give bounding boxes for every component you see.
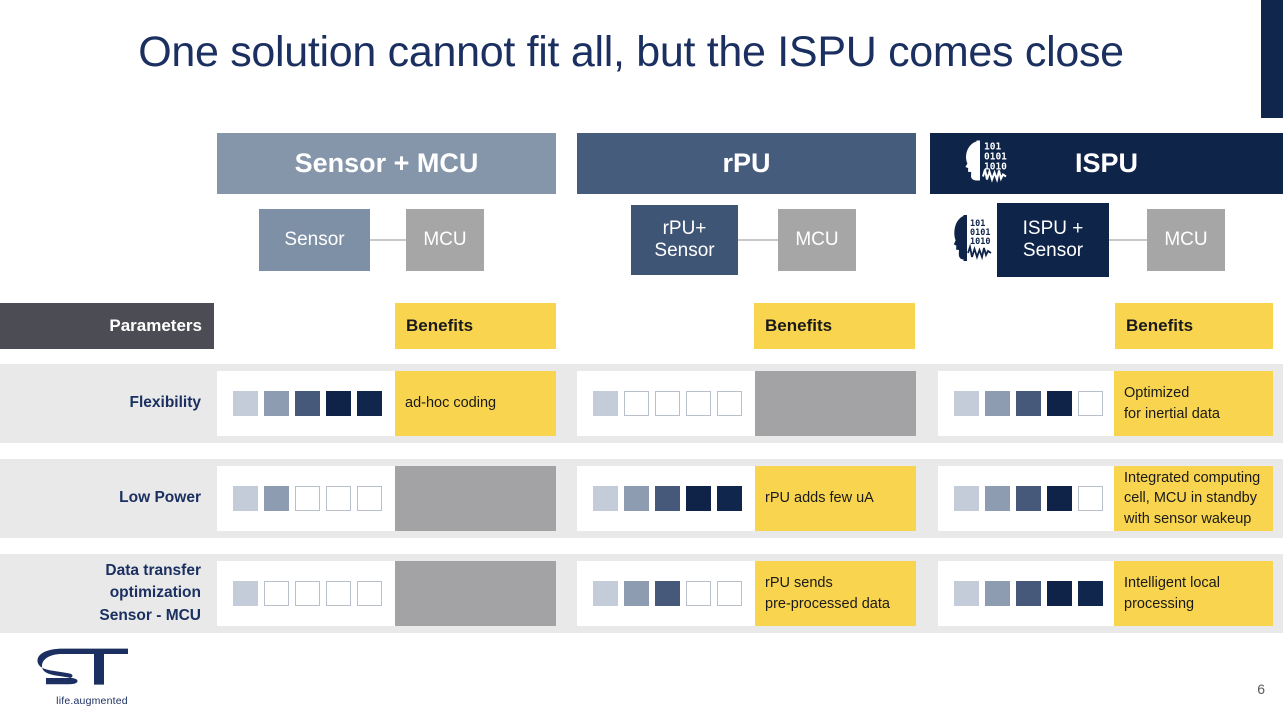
benefit-text-ispu: Intelligent localprocessing [1114,561,1273,626]
rating-squares [577,466,755,531]
diagram-connector [370,239,406,241]
benefit-text-ispu: Optimizedfor inertial data [1114,371,1273,436]
rating-square-filled [295,391,320,416]
benefit-text-rpu [755,371,916,436]
benefit-text-rpu: rPU adds few uA [755,466,916,531]
row-label: Flexibility [0,364,214,443]
benefit-text-sensor-mcu: ad-hoc coding [395,371,556,436]
column-rpu: rPU rPU+ Sensor MCU [577,133,916,286]
row-label-text: Sensor - MCU [99,607,201,624]
rating-square-filled [593,486,618,511]
rating-square-empty [326,581,351,606]
st-logo-mark [32,648,152,692]
benefits-header-rpu: Benefits [754,303,915,349]
diagram-block-sensor: Sensor [259,209,370,271]
benefit-line: processing [1124,594,1267,615]
rating-square-empty [264,581,289,606]
rating-square-filled [233,581,258,606]
right-edge-accent-bar [1261,0,1283,118]
diagram-connector [738,239,778,241]
diagram-block-line2: Sensor [1023,240,1083,261]
row-label: Data transfer optimization Sensor - MCU [0,554,214,633]
rating-square-filled [954,581,979,606]
rating-cell-sensor-mcu [217,561,556,626]
rating-square-filled [1078,581,1103,606]
slide-canvas: One solution cannot fit all, but the ISP… [0,0,1283,715]
rating-squares [217,466,395,531]
benefit-line: rPU adds few uA [765,488,910,509]
table-row: Flexibility ad-hoc coding Optimizedfor i… [0,364,1283,443]
rating-square-empty [624,391,649,416]
rating-squares [577,371,755,436]
parameters-header: Parameters [0,303,214,349]
diagram-block-rpu-sensor: rPU+ Sensor [631,205,738,275]
column-header-label: Sensor + MCU [295,148,479,179]
rating-square-filled [1047,486,1072,511]
row-label-text: optimization [110,584,201,601]
rating-square-empty [717,391,742,416]
benefit-line: cell, MCU in standby [1124,488,1267,509]
rating-square-filled [655,486,680,511]
rating-squares [938,561,1114,626]
column-header-ispu: 101 0101 1010 ISPU [930,133,1283,194]
benefit-line: Optimized [1124,383,1267,404]
diagram-connector [1109,239,1147,241]
st-logo: life.augmented [32,648,152,707]
diagram-block-mcu: MCU [1147,209,1225,271]
rating-square-filled [985,486,1010,511]
rating-square-filled [593,391,618,416]
benefit-line: with sensor wakeup [1124,509,1267,530]
rating-square-filled [624,581,649,606]
block-diagram-rpu: rPU+ Sensor MCU [577,194,916,286]
page-title: One solution cannot fit all, but the ISP… [0,28,1262,77]
rating-cell-rpu [577,371,916,436]
rating-square-filled [1016,581,1041,606]
page-number: 6 [1257,681,1265,697]
row-label-text: Data transfer [105,562,201,579]
benefit-line: rPU sends [765,573,910,594]
rating-square-filled [954,486,979,511]
rating-square-empty [717,581,742,606]
comparison-table: Parameters Benefits Benefits Benefits Fl… [0,303,1283,649]
rating-square-filled [264,486,289,511]
diagram-block-mcu: MCU [406,209,484,271]
rating-square-filled [686,486,711,511]
rating-square-filled [593,581,618,606]
benefit-text-sensor-mcu [395,561,556,626]
row-label-text: Flexibility [130,392,202,414]
column-ispu: 101 0101 1010 ISPU 101 0101 1010 [930,133,1283,286]
svg-text:1010: 1010 [970,237,990,247]
rating-square-filled [655,581,680,606]
rating-squares [217,561,395,626]
diagram-block-line1: ISPU + [1023,218,1084,239]
diagram-block-mcu: MCU [778,209,856,271]
rating-square-filled [1016,391,1041,416]
column-header-label: rPU [722,148,770,179]
rating-square-filled [1016,486,1041,511]
diagram-block-line2: Sensor [654,240,714,261]
benefit-text-rpu: rPU sendspre-processed data [755,561,916,626]
rating-square-empty [326,486,351,511]
rating-square-filled [233,391,258,416]
rating-square-filled [1047,391,1072,416]
table-row: Data transfer optimization Sensor - MCU … [0,554,1283,633]
table-header-row: Parameters Benefits Benefits Benefits [0,303,1283,349]
block-diagram-sensor-mcu: Sensor MCU [217,194,556,286]
rating-square-filled [985,391,1010,416]
rating-square-empty [357,486,382,511]
rating-squares [577,561,755,626]
rating-square-empty [295,486,320,511]
rating-squares [217,371,395,436]
rating-square-empty [1078,391,1103,416]
rating-square-filled [326,391,351,416]
ispu-head-binary-icon: 101 0101 1010 [952,209,994,272]
st-logo-tagline: life.augmented [32,695,152,707]
column-header-label: ISPU [1075,148,1138,179]
benefits-header-ispu: Benefits [1115,303,1273,349]
rating-square-filled [357,391,382,416]
rating-square-empty [357,581,382,606]
block-diagram-ispu: 101 0101 1010 ISPU + Sensor MCU [930,194,1283,286]
benefit-line: ad-hoc coding [405,393,550,414]
column-sensor-mcu: Sensor + MCU Sensor MCU [217,133,556,286]
svg-text:1010: 1010 [984,161,1007,172]
rating-cell-ispu: Integrated computingcell, MCU in standby… [938,466,1273,531]
rating-square-filled [1047,581,1072,606]
column-header-sensor-mcu: Sensor + MCU [217,133,556,194]
row-label: Low Power [0,459,214,538]
benefit-line: for inertial data [1124,404,1267,425]
rating-square-filled [717,486,742,511]
rating-squares [938,371,1114,436]
rating-cell-sensor-mcu: ad-hoc coding [217,371,556,436]
ispu-head-binary-icon: 101 0101 1010 [963,138,1011,189]
rating-square-empty [686,391,711,416]
rating-square-empty [655,391,680,416]
rating-cell-rpu: rPU adds few uA [577,466,916,531]
rating-cell-rpu: rPU sendspre-processed data [577,561,916,626]
table-row: Low Power rPU adds few uA Integrated com… [0,459,1283,538]
benefit-line: Integrated computing [1124,468,1267,489]
rating-square-empty [1078,486,1103,511]
rating-square-filled [624,486,649,511]
rating-cell-sensor-mcu [217,466,556,531]
benefit-line: Intelligent local [1124,573,1267,594]
benefit-text-ispu: Integrated computingcell, MCU in standby… [1114,466,1273,531]
rating-square-filled [233,486,258,511]
diagram-block-line1: rPU+ [663,218,707,239]
rating-square-filled [264,391,289,416]
rating-square-filled [985,581,1010,606]
benefit-line: pre-processed data [765,594,910,615]
rating-square-filled [954,391,979,416]
rating-cell-ispu: Optimizedfor inertial data [938,371,1273,436]
rating-squares [938,466,1114,531]
benefits-header-sensor-mcu: Benefits [395,303,556,349]
diagram-block-ispu-sensor: ISPU + Sensor [997,203,1109,277]
rating-square-empty [295,581,320,606]
benefit-text-sensor-mcu [395,466,556,531]
rating-square-empty [686,581,711,606]
column-header-rpu: rPU [577,133,916,194]
row-label-text: Low Power [119,487,201,509]
rating-cell-ispu: Intelligent localprocessing [938,561,1273,626]
